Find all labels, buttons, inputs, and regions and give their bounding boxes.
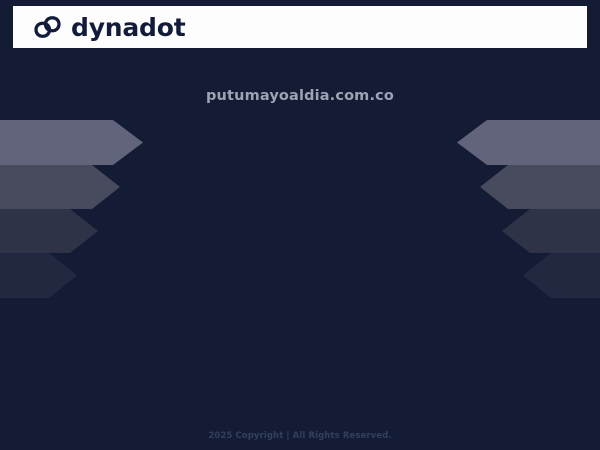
chevron-right-band-4 [523, 253, 600, 298]
dynadot-logo[interactable]: dynadot [33, 14, 185, 40]
brand-name-label: dynadot [71, 15, 185, 40]
copyright-text: 2025 Copyright | All Rights Reserved. [208, 431, 391, 441]
domain-parking-page: dynadot putumayoaldia.com.co 2025 Copyri… [0, 0, 600, 450]
domain-name-title: putumayoaldia.com.co [0, 88, 600, 105]
footer: 2025 Copyright | All Rights Reserved. [0, 423, 600, 442]
chevron-left-band-2 [0, 165, 120, 209]
chevron-left-band-3 [0, 209, 98, 253]
chevron-bands-decoration [0, 120, 600, 298]
chevron-right-band-1 [457, 120, 600, 165]
chevron-right-band-3 [502, 209, 600, 253]
header-bar: dynadot [13, 6, 587, 48]
chevron-left-band-1 [0, 120, 143, 165]
chain-link-icon [33, 14, 62, 40]
chevron-left-band-4 [0, 253, 77, 298]
chevron-right-band-2 [480, 165, 600, 209]
